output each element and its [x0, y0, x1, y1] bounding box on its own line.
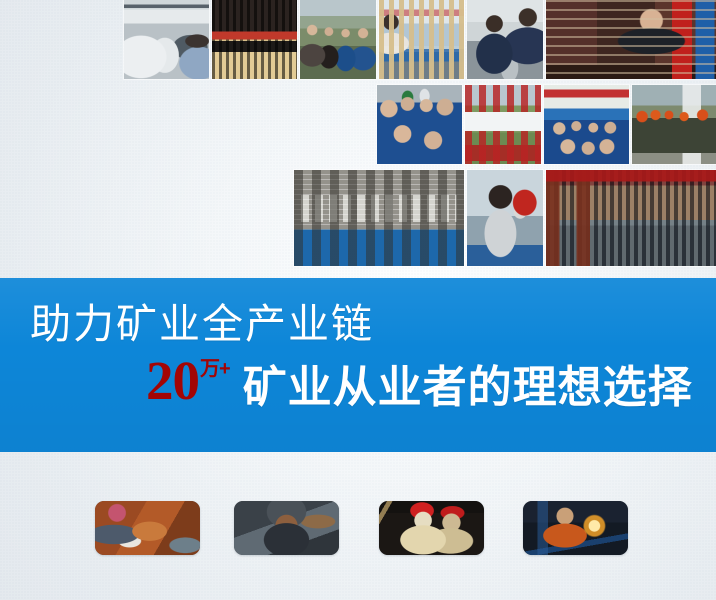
thumb-miner-portrait-image [234, 501, 339, 555]
photo-industry-conference-image [546, 170, 716, 266]
photo-lab-technician-image [124, 0, 209, 79]
photo-company-sign [294, 170, 464, 266]
photo-mountain-team [300, 0, 376, 79]
thumb-furnace-worker-image [523, 501, 628, 555]
thumb-helmet-workers-image [379, 501, 484, 555]
photo-sample-prep [467, 0, 543, 79]
photo-donation-banner-image [465, 85, 541, 164]
photo-plant-team [544, 85, 629, 164]
promotional-banner-page: 助力矿业全产业链 20 万+ 矿业从业者的理想选择 [0, 0, 716, 600]
photo-industry-conference [546, 170, 716, 266]
thumbnail-strip [0, 496, 716, 566]
photo-worker-crew [377, 85, 462, 164]
member-count-unit: 万+ [200, 358, 231, 379]
unit-plus-label: + [219, 358, 231, 380]
company-sign-lettering [301, 195, 457, 222]
photo-conference-stage [212, 0, 297, 79]
photo-helmet-crew-image [632, 85, 716, 164]
thumb-helmet-workers [379, 501, 484, 555]
photo-worker-crew-image [377, 85, 462, 164]
photo-conference-stage-image [212, 0, 297, 79]
headline-line-1: 助力矿业全产业链 [30, 304, 374, 345]
thumb-furnace-worker [523, 501, 628, 555]
photo-plant-team-image [544, 85, 629, 164]
photo-flag-raising [467, 170, 543, 266]
photo-executive-office-image [546, 0, 716, 79]
photo-sample-prep-image [467, 0, 543, 79]
photo-collage [0, 0, 716, 266]
photo-flag-raising-image [467, 170, 543, 266]
unit-wan-label: 万 [200, 356, 220, 380]
thumb-geologist-image [95, 501, 200, 555]
photo-mountain-team-image [300, 0, 376, 79]
photo-lab-technician [124, 0, 209, 79]
photo-company-sign-image [294, 170, 464, 266]
headline-line-2: 20 万+ 矿业从业者的理想选择 [146, 356, 693, 407]
headline-line-2-text: 矿业从业者的理想选择 [243, 366, 693, 410]
thumb-miner-portrait [234, 501, 339, 555]
photo-donation-banner [465, 85, 541, 164]
thumb-geologist [95, 501, 200, 555]
headline-banner: 助力矿业全产业链 20 万+ 矿业从业者的理想选择 [0, 278, 716, 452]
photo-production-line [379, 0, 464, 79]
photo-production-line-image [379, 0, 464, 79]
member-count-number: 20 [146, 356, 199, 407]
photo-executive-office [546, 0, 716, 79]
photo-helmet-crew [632, 85, 716, 164]
